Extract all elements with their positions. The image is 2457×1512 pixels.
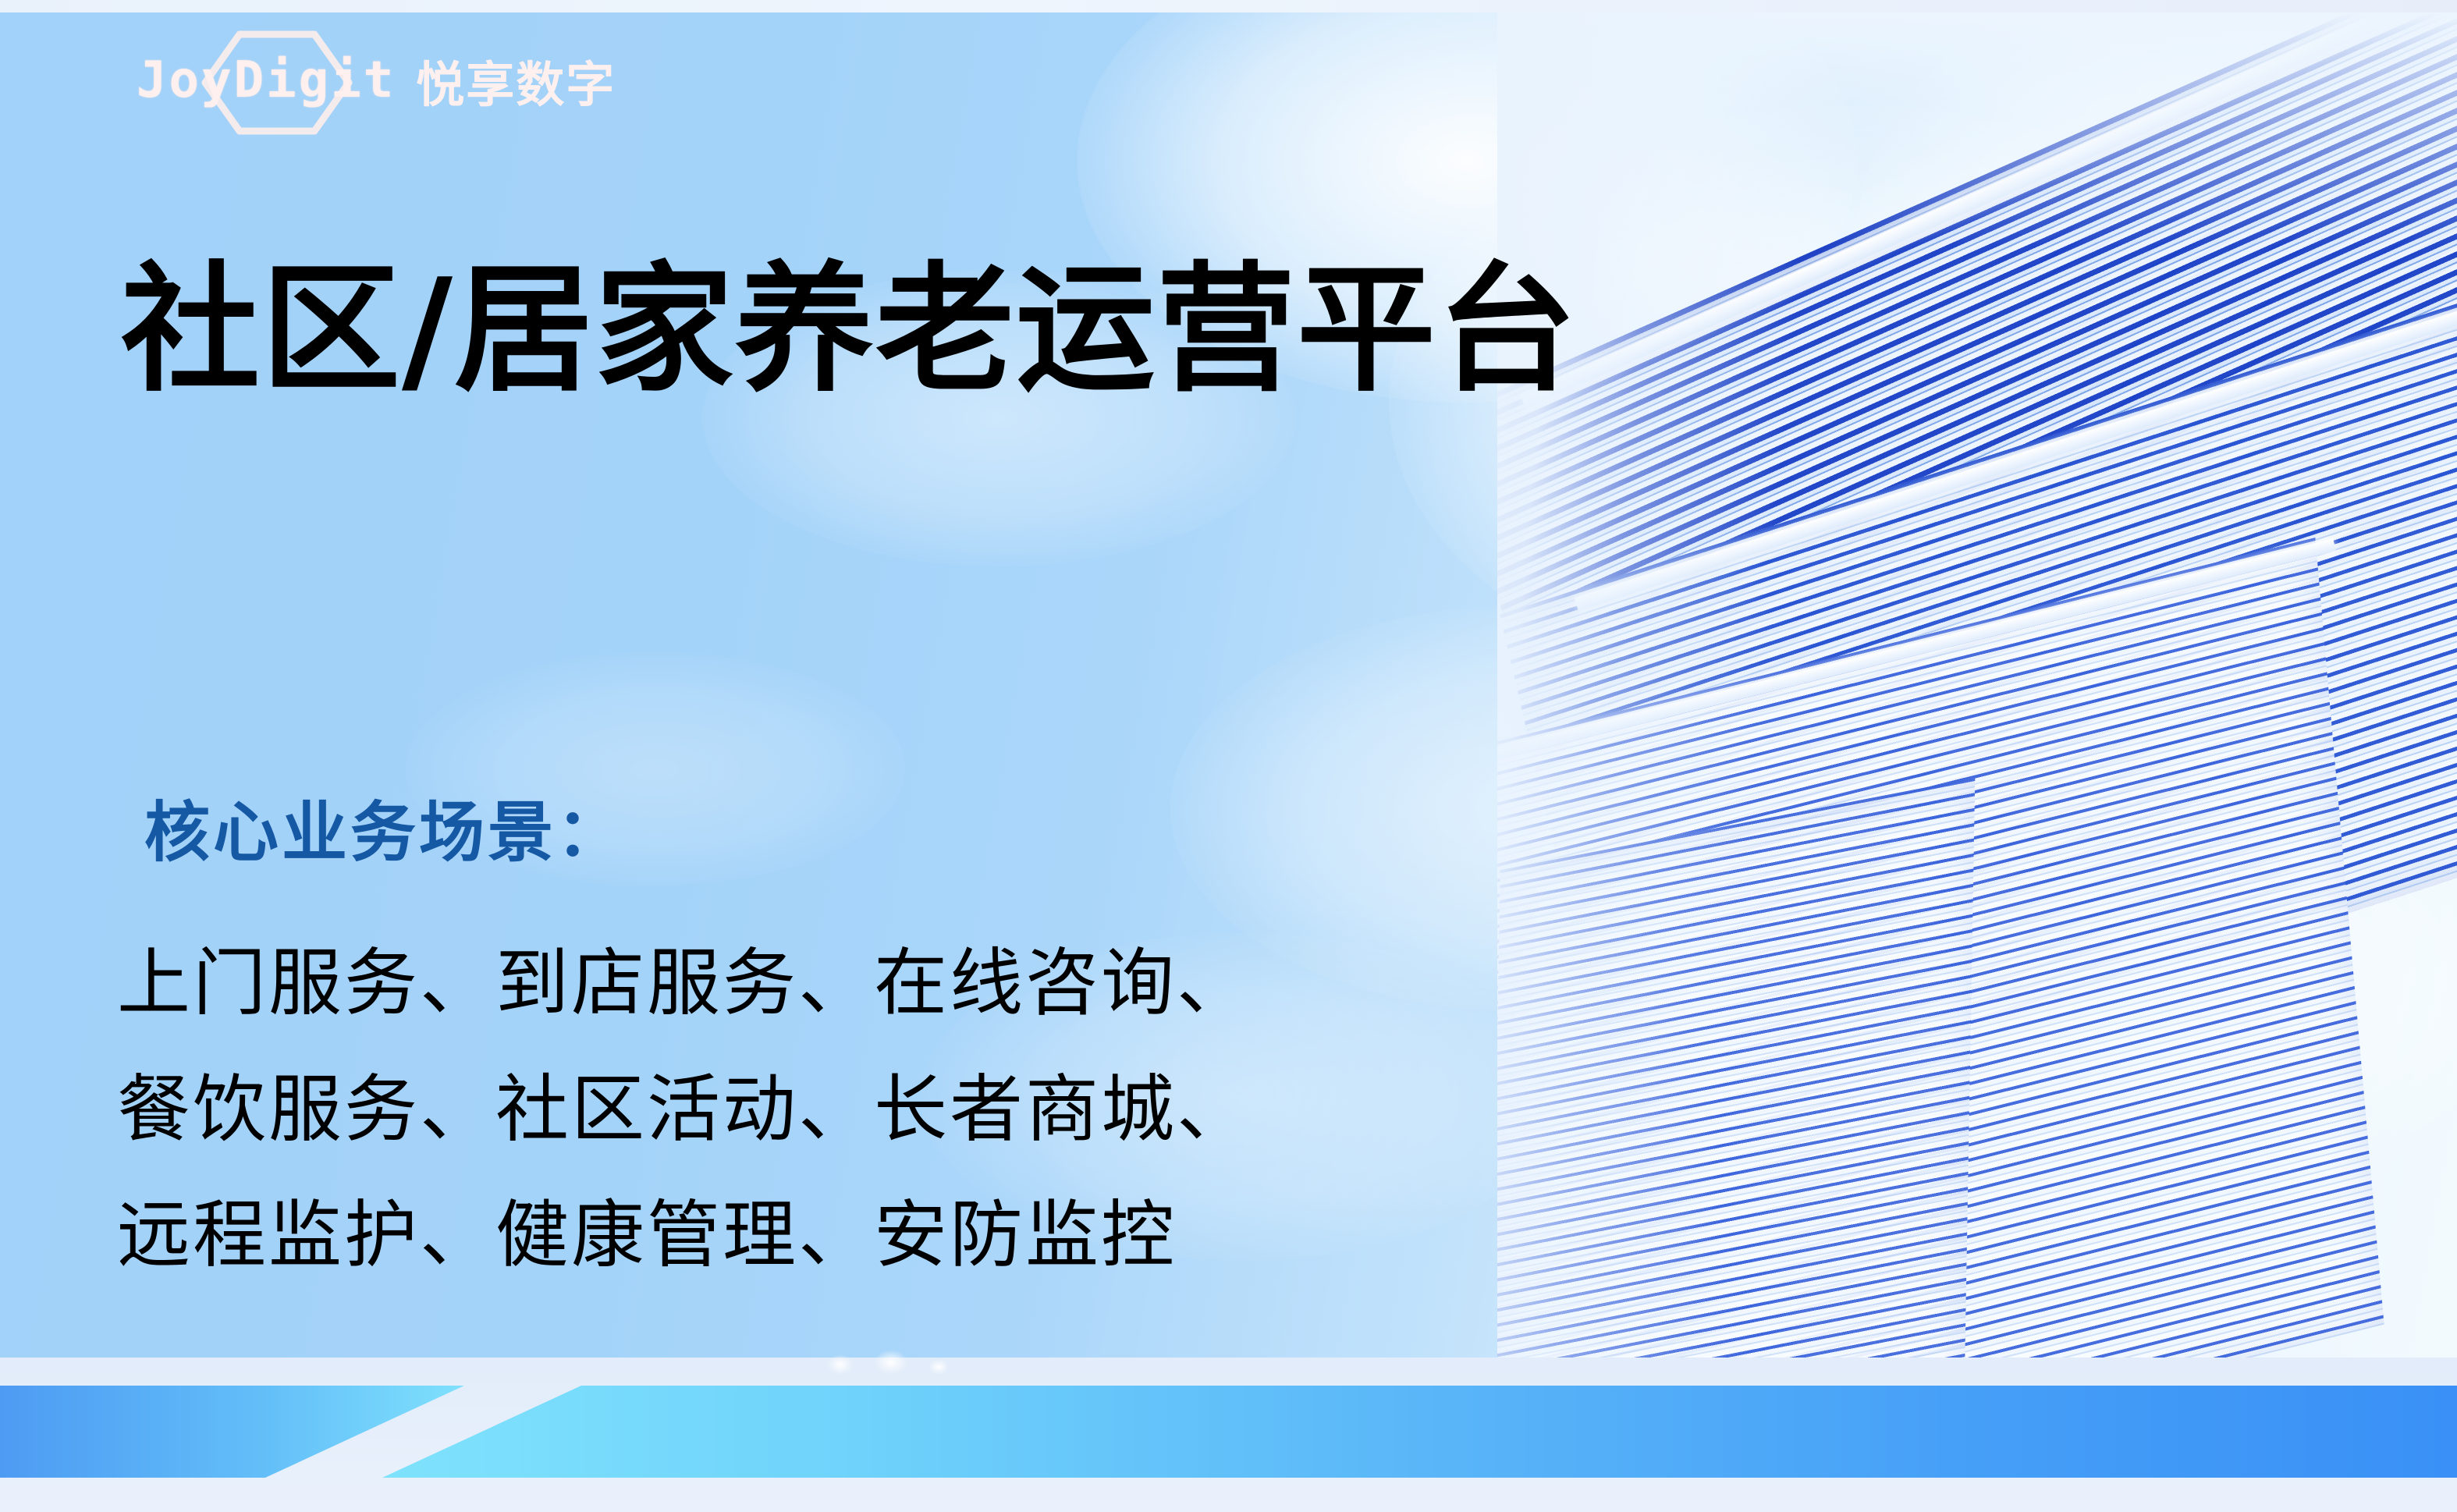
- top-edge-strip: [0, 0, 2457, 12]
- logo-wordmark-cn: 悦享数字: [416, 45, 616, 115]
- cloud-nub: [874, 1350, 908, 1375]
- scenario-line: 上门服务、到店服务、在线咨询、: [117, 921, 1252, 1047]
- cloud-nub: [827, 1354, 854, 1375]
- scenario-line: 远程监护、健康管理、安防监控: [117, 1173, 1252, 1299]
- slide-root: JoyDigit 悦享数字 社区/居家养老运营平台 核心业务场景： 上门服务、到…: [0, 0, 2457, 1512]
- section-heading: 核心业务场景：: [144, 780, 625, 875]
- bottom-decorative-band: [0, 1358, 2457, 1512]
- scenario-list: 上门服务、到店服务、在线咨询、 餐饮服务、社区活动、长者商城、 远程监护、健康管…: [117, 921, 1252, 1299]
- scenario-line: 餐饮服务、社区活动、长者商城、: [117, 1047, 1252, 1173]
- skyscraper-image: [1497, 12, 2457, 1374]
- building-slab: [1497, 778, 1975, 1374]
- logo-wordmark: JoyDigit: [137, 51, 396, 109]
- brand-logo[interactable]: JoyDigit 悦享数字: [137, 45, 616, 115]
- cloud-nub: [928, 1359, 949, 1375]
- page-title: 社区/居家养老运营平台: [121, 257, 1578, 402]
